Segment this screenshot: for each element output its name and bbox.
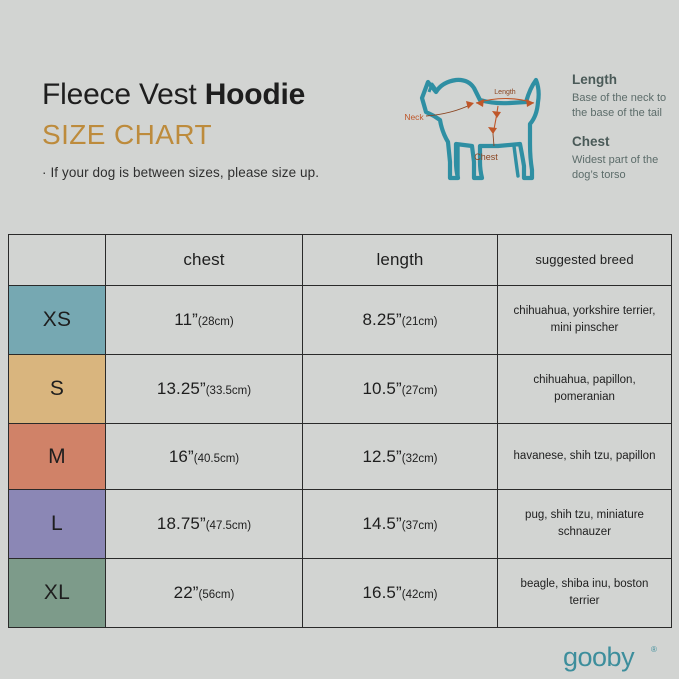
size-swatch-m: M bbox=[9, 424, 106, 490]
length-inches-l: 14.5” bbox=[362, 514, 401, 533]
length-cm-xs: (21cm) bbox=[402, 316, 438, 328]
page-title-bold: Hoodie bbox=[205, 78, 305, 111]
page-subtitle: SIZE CHART bbox=[42, 120, 402, 149]
header-cell-chest: chest bbox=[106, 235, 303, 286]
chest-inches-m: 16” bbox=[169, 447, 194, 466]
breed-cell-l: pug, shih tzu, miniature schnauzer bbox=[498, 490, 672, 559]
legend-item-chest: Chest Widest part of the dog’s torso bbox=[572, 134, 677, 183]
length-cell-xl: 16.5”(42cm) bbox=[303, 559, 498, 628]
sizing-note: · If your dog is between sizes, please s… bbox=[42, 165, 402, 180]
length-inches-xs: 8.25” bbox=[362, 310, 401, 329]
breed-cell-xs: chihuahua, yorkshire terrier, mini pinsc… bbox=[498, 286, 672, 355]
table-header-row: chest length suggested breed bbox=[9, 235, 672, 286]
size-swatch-xl: XL bbox=[9, 559, 106, 628]
table-row: XL 22”(56cm) 16.5”(42cm) beagle, shiba i… bbox=[9, 559, 672, 628]
size-swatch-s: S bbox=[9, 355, 106, 424]
table-row: S 13.25”(33.5cm) 10.5”(27cm) chihuahua, … bbox=[9, 355, 672, 424]
chest-cm-xl: (56cm) bbox=[199, 589, 235, 601]
length-cell-l: 14.5”(37cm) bbox=[303, 490, 498, 559]
size-label-l: L bbox=[51, 512, 63, 535]
breed-text-xl: beagle, shiba inu, boston terrier bbox=[498, 576, 671, 609]
size-label-s: S bbox=[50, 377, 64, 400]
neck-label: Neck bbox=[404, 112, 424, 122]
breed-cell-s: chihuahua, papillon, pomeranian bbox=[498, 355, 672, 424]
header-section: Fleece Vest Hoodie SIZE CHART · If your … bbox=[0, 0, 679, 228]
chest-cell-s: 13.25”(33.5cm) bbox=[106, 355, 303, 424]
table-row: M 16”(40.5cm) 12.5”(32cm) havanese, shih… bbox=[9, 424, 672, 490]
table-body: XS 11”(28cm) 8.25”(21cm) chihuahua, york… bbox=[9, 286, 672, 628]
length-cell-s: 10.5”(27cm) bbox=[303, 355, 498, 424]
table-header: chest length suggested breed bbox=[9, 235, 672, 286]
header-label-chest: chest bbox=[183, 250, 224, 269]
size-label-xl: XL bbox=[44, 581, 70, 604]
header-label-length: length bbox=[377, 250, 424, 269]
chest-cm-l: (47.5cm) bbox=[206, 520, 251, 532]
legend-desc-length: Base of the neck to the base of the tail bbox=[572, 91, 677, 121]
dog-illustration-svg: Length Neck Chest bbox=[398, 58, 568, 188]
page-title-regular: Fleece Vest bbox=[42, 78, 205, 111]
legend-term-chest: Chest bbox=[572, 134, 677, 151]
dog-rear-leg bbox=[514, 146, 518, 176]
page-title: Fleece Vest Hoodie bbox=[42, 78, 402, 111]
gooby-wordmark: gooby bbox=[563, 642, 635, 672]
dog-body-outline bbox=[422, 80, 539, 178]
neck-arrow bbox=[466, 101, 474, 109]
breed-cell-m: havanese, shih tzu, papillon bbox=[498, 424, 672, 490]
chest-cm-xs: (28cm) bbox=[198, 316, 234, 328]
measurement-legend: Length Base of the neck to the base of t… bbox=[572, 72, 677, 196]
breed-text-m: havanese, shih tzu, papillon bbox=[498, 448, 671, 465]
legend-term-length: Length bbox=[572, 72, 677, 89]
length-cell-m: 12.5”(32cm) bbox=[303, 424, 498, 490]
length-cm-m: (32cm) bbox=[402, 453, 438, 465]
table-row: XS 11”(28cm) 8.25”(21cm) chihuahua, york… bbox=[9, 286, 672, 355]
length-cm-l: (37cm) bbox=[402, 520, 438, 532]
breed-cell-xl: beagle, shiba inu, boston terrier bbox=[498, 559, 672, 628]
length-inches-s: 10.5” bbox=[362, 379, 401, 398]
length-inches-xl: 16.5” bbox=[362, 583, 401, 602]
chest-inches-l: 18.75” bbox=[157, 514, 206, 533]
breed-text-xs: chihuahua, yorkshire terrier, mini pinsc… bbox=[498, 303, 671, 336]
registered-mark: ® bbox=[651, 645, 657, 654]
gooby-logo: gooby ® bbox=[563, 641, 667, 675]
length-label: Length bbox=[494, 89, 516, 96]
chest-cell-xl: 22”(56cm) bbox=[106, 559, 303, 628]
header-label-breed: suggested breed bbox=[535, 252, 633, 267]
header-cell-length: length bbox=[303, 235, 498, 286]
length-inches-m: 12.5” bbox=[362, 447, 401, 466]
length-cm-xl: (42cm) bbox=[402, 589, 438, 601]
size-swatch-xs: XS bbox=[9, 286, 106, 355]
chest-cm-m: (40.5cm) bbox=[194, 453, 239, 465]
breed-text-s: chihuahua, papillon, pomeranian bbox=[498, 372, 671, 405]
gooby-logo-svg: gooby ® bbox=[563, 641, 667, 675]
breed-text-l: pug, shih tzu, miniature schnauzer bbox=[498, 507, 671, 540]
chest-cm-s: (33.5cm) bbox=[206, 385, 251, 397]
chest-inches-s: 13.25” bbox=[157, 379, 206, 398]
chest-inches-xs: 11” bbox=[174, 310, 198, 329]
chest-arrow-down bbox=[488, 127, 497, 134]
legend-item-length: Length Base of the neck to the base of t… bbox=[572, 72, 677, 121]
size-label-m: M bbox=[48, 445, 66, 468]
title-block: Fleece Vest Hoodie SIZE CHART · If your … bbox=[42, 78, 402, 180]
chest-cell-l: 18.75”(47.5cm) bbox=[106, 490, 303, 559]
header-cell-size bbox=[9, 235, 106, 286]
chest-inches-xl: 22” bbox=[174, 583, 199, 602]
size-label-xs: XS bbox=[43, 308, 72, 331]
length-cm-s: (27cm) bbox=[402, 385, 438, 397]
length-arrow-right bbox=[526, 99, 534, 107]
chest-arrow-up bbox=[492, 111, 501, 118]
legend-desc-chest: Widest part of the dog’s torso bbox=[572, 153, 677, 183]
length-cell-xs: 8.25”(21cm) bbox=[303, 286, 498, 355]
table-row: L 18.75”(47.5cm) 14.5”(37cm) pug, shih t… bbox=[9, 490, 672, 559]
chest-cell-m: 16”(40.5cm) bbox=[106, 424, 303, 490]
chest-cell-xs: 11”(28cm) bbox=[106, 286, 303, 355]
chest-label: Chest bbox=[474, 152, 498, 162]
header-cell-breed: suggested breed bbox=[498, 235, 672, 286]
size-chart-table: chest length suggested breed XS 11”(28cm… bbox=[8, 234, 672, 628]
size-swatch-l: L bbox=[9, 490, 106, 559]
dog-measurement-diagram: Length Neck Chest bbox=[398, 58, 568, 188]
